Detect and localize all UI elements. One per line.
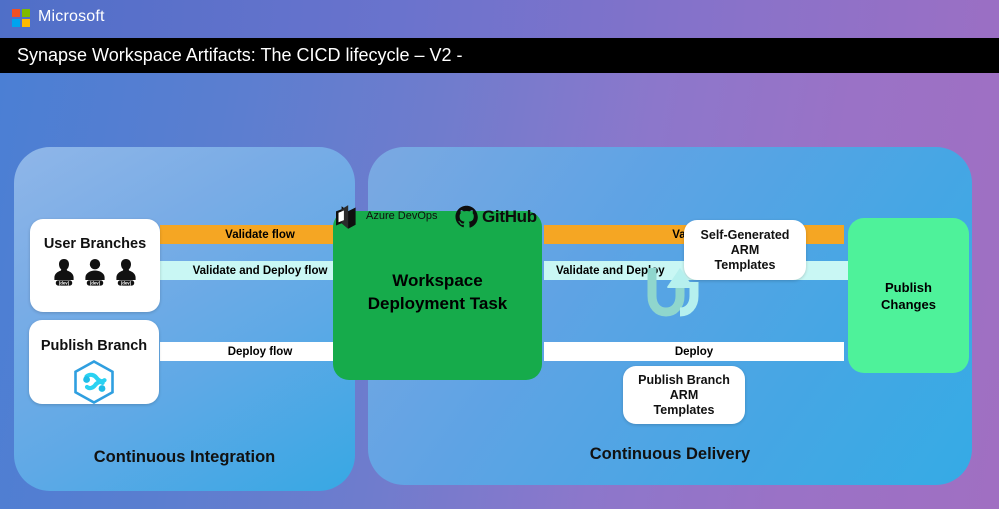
developer-avatar-female-icon: (dev): [51, 257, 77, 287]
github-label: GitHub: [482, 207, 537, 227]
continuous-delivery-caption: Continuous Delivery: [368, 445, 972, 464]
pb-arm-line-2: ARM: [670, 388, 698, 403]
microsoft-top-bar: Microsoft: [0, 0, 999, 38]
svg-text:(dev): (dev): [59, 280, 70, 285]
pb-arm-line-1: Publish Branch: [638, 373, 730, 388]
continuous-integration-caption: Continuous Integration: [14, 448, 355, 467]
microsoft-squares-icon: [12, 9, 31, 28]
azure-devops-logo: Azure DevOps: [334, 203, 438, 229]
card-user-branches-title: User Branches: [44, 236, 146, 252]
task-title-line-1: Workspace: [368, 269, 508, 292]
azure-synapse-hexagon-icon: [73, 360, 115, 404]
flow-bar-deploy: Deploy: [544, 342, 844, 361]
slide-canvas: Microsoft Synapse Workspace Artifacts: T…: [0, 0, 999, 509]
page-title: Synapse Workspace Artifacts: The CICD li…: [0, 45, 463, 66]
github-octocat-icon: [455, 205, 478, 228]
task-title-line-2: Deployment Task: [368, 292, 508, 315]
slide-title-band: Synapse Workspace Artifacts: The CICD li…: [0, 38, 999, 73]
azure-devops-label: Azure DevOps: [366, 210, 438, 222]
flow-bar-validate-flow: Validate flow: [160, 225, 360, 244]
flow-bar-deploy-flow: Deploy flow: [160, 342, 360, 361]
card-self-generated-arm-templates[interactable]: Self-Generated ARM Templates: [684, 220, 806, 280]
workspace-deployment-task-label: Workspace Deployment Task: [368, 269, 508, 315]
self-arm-line-3: Templates: [715, 258, 776, 273]
brand-label: Microsoft: [38, 8, 105, 26]
svg-text:(dev): (dev): [90, 280, 101, 285]
three-developer-avatars-icon: (dev) (dev) (dev): [51, 257, 139, 287]
pb-arm-line-3: Templates: [654, 403, 715, 418]
svg-text:(dev): (dev): [121, 280, 132, 285]
card-publish-branch-title: Publish Branch: [41, 338, 147, 354]
card-user-branches[interactable]: User Branches (dev) (dev) (dev): [30, 219, 160, 312]
publish-changes-box[interactable]: Publish Changes: [848, 218, 969, 373]
azure-devops-icon: [334, 203, 360, 229]
developer-avatar-female-2-icon: (dev): [113, 257, 139, 287]
u-turn-arrow-icon: [640, 268, 702, 328]
self-arm-line-2: ARM: [731, 243, 759, 258]
card-publish-branch-arm-templates[interactable]: Publish Branch ARM Templates: [623, 366, 745, 424]
self-arm-line-1: Self-Generated: [701, 228, 790, 243]
publish-line-1: Publish: [881, 279, 936, 296]
developer-avatar-male-icon: (dev): [82, 257, 108, 287]
continuous-integration-panel: [14, 147, 355, 491]
publish-line-2: Changes: [881, 296, 936, 313]
flow-bar-validate-and-deploy-flow: Validate and Deploy flow: [160, 261, 360, 280]
github-logo: GitHub: [455, 205, 537, 228]
workspace-deployment-task-box[interactable]: Workspace Deployment Task: [333, 211, 542, 380]
publish-changes-label: Publish Changes: [881, 279, 936, 313]
